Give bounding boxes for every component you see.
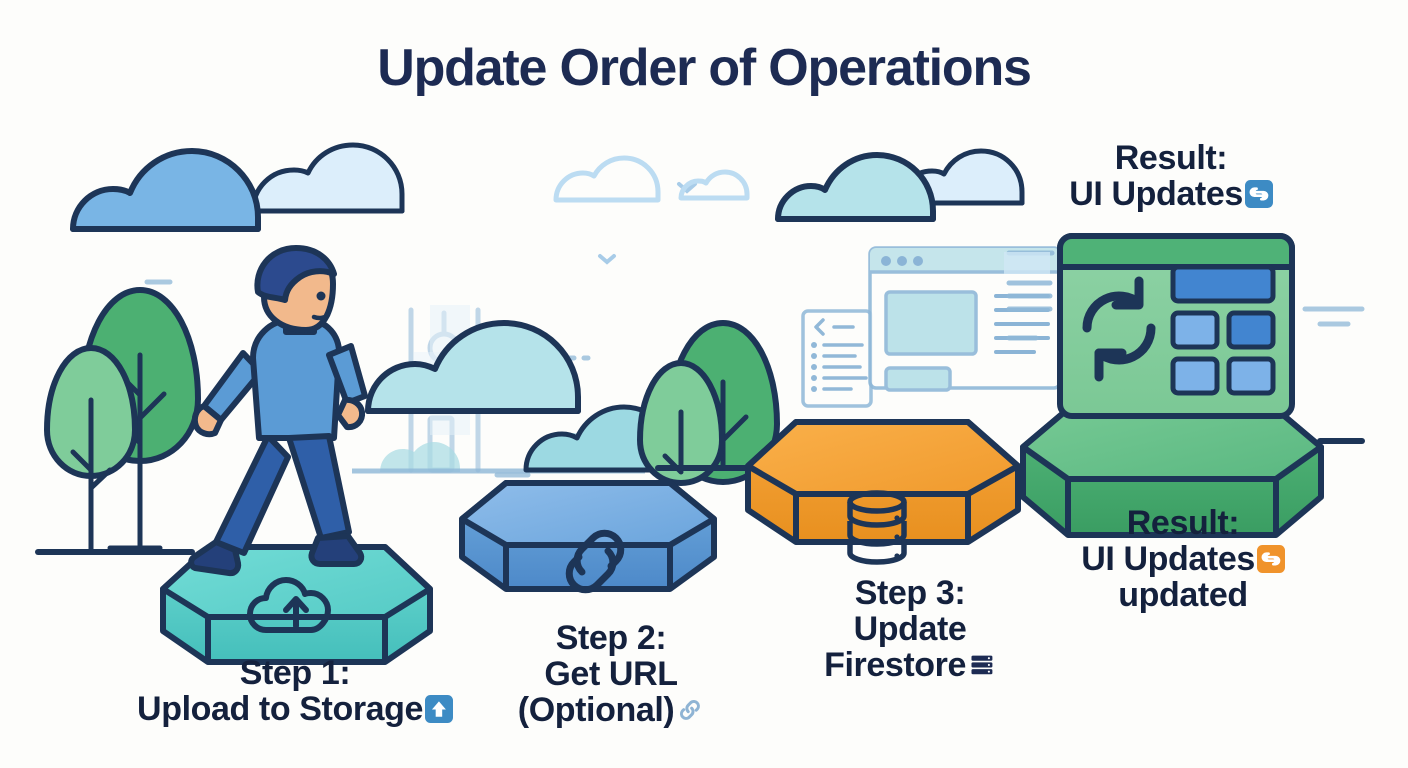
illustration-scene: Update Order of Operations Step 1:Upload…	[0, 0, 1408, 768]
server-rack-emoji	[968, 650, 996, 678]
result-bottom-line2: UI Updates	[1081, 540, 1255, 578]
counterclockwise-arrows-emoji	[1245, 180, 1273, 208]
step-2-line3: (Optional)	[518, 691, 675, 729]
step-3-line1: Step 3:	[855, 574, 966, 612]
step-3-line3: Firestore	[824, 646, 966, 684]
repeat-arrows-emoji	[1257, 545, 1285, 573]
result-bottom-line1: Result:	[1127, 504, 1239, 542]
result-top-line2: UI Updates	[1069, 175, 1243, 213]
step-2-platform	[462, 483, 714, 590]
step-1-line2: Upload to Storage	[137, 690, 423, 728]
link-emoji	[676, 695, 704, 723]
up-arrow-emoji	[425, 695, 453, 723]
person-eye	[317, 292, 326, 301]
ui-block-2	[1229, 313, 1273, 347]
step-1-label: Step 1:Upload to Storage	[130, 655, 460, 727]
result-top-line1: Result:	[1115, 139, 1227, 177]
step-2-label: Step 2:Get URL(Optional)	[496, 620, 726, 728]
ui-block-1	[1173, 313, 1217, 347]
result-screen	[1060, 236, 1292, 416]
step-3-line2: Update	[854, 610, 967, 648]
step-3-platform	[748, 422, 1018, 562]
ui-block-4	[1229, 359, 1273, 393]
result-top-label: Result:UI Updates	[1046, 140, 1296, 212]
page-title: Update Order of Operations	[0, 38, 1408, 98]
result-bottom-label: Result:UI Updatesupdated	[1058, 505, 1308, 613]
step-2-line2: Get URL	[544, 655, 677, 693]
ui-block-3	[1173, 359, 1217, 393]
result-bottom-line3: updated	[1118, 576, 1247, 614]
ui-block-wide-bar	[1173, 267, 1273, 301]
step-1-line1: Step 1:	[240, 654, 351, 692]
step-2-line1: Step 2:	[556, 619, 667, 657]
walking-person	[191, 248, 365, 573]
step-3-label: Step 3:UpdateFirestore	[800, 575, 1020, 683]
